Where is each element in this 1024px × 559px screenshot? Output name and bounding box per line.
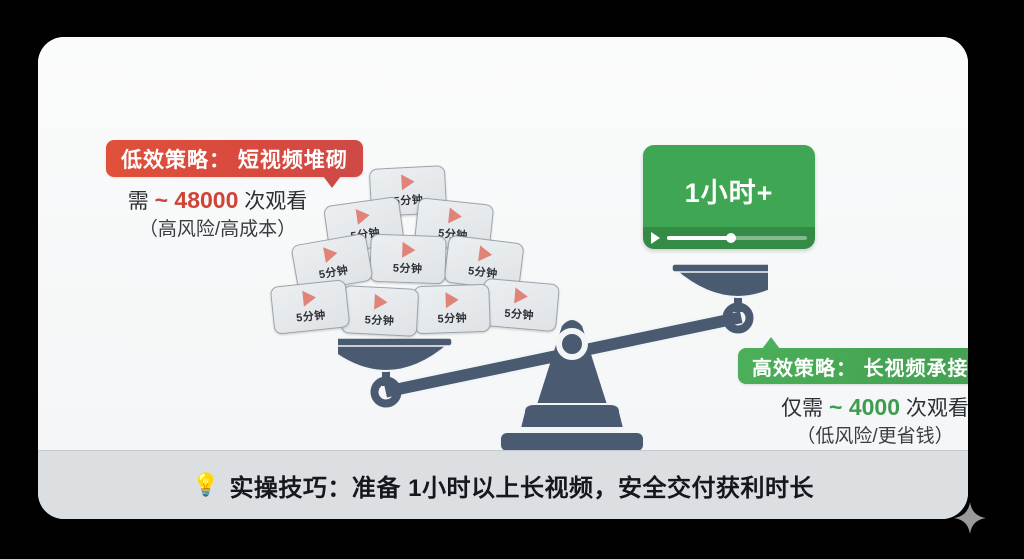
efficient-stat-block: 仅需 ~ 4000 次观看 （低风险/更省钱） [751, 392, 968, 450]
tip-footer: 💡 实操技巧：准备 1小时以上长视频，安全交付获利时长 [38, 450, 968, 519]
card-body: 低效策略： 短视频堆砌 需 ~ 48000 次观看 （高风险/高成本） 5分钟5… [38, 37, 968, 451]
efficient-strategy-badge: 高效策略： 长视频承接 [738, 348, 968, 384]
play-icon [323, 245, 339, 263]
long-video-card: 1小时+ [643, 145, 815, 249]
progress-knob [726, 233, 736, 243]
inefficient-stat-value: ~ 48000 [155, 187, 239, 213]
slide-stage: 低效策略： 短视频堆砌 需 ~ 48000 次观看 （高风险/高成本） 5分钟5… [0, 0, 1024, 559]
progress-fill [667, 236, 731, 240]
short-video-pile: 5分钟5分钟5分钟5分钟5分钟5分钟5分钟5分钟5分钟5分钟 [266, 195, 506, 330]
inefficient-strategy-badge: 低效策略： 短视频堆砌 [106, 140, 363, 177]
play-icon [402, 242, 416, 258]
efficient-stat-line: 仅需 ~ 4000 次观看 [751, 392, 968, 424]
play-icon [374, 294, 388, 311]
play-icon [448, 207, 463, 224]
play-icon [651, 232, 660, 244]
short-video-chip: 5分钟 [480, 278, 560, 332]
left-pan [338, 338, 452, 371]
right-pan [672, 264, 768, 297]
efficient-strategy-badge-label: 高效策略： 长视频承接 [752, 352, 968, 381]
play-icon [514, 287, 528, 304]
short-video-chip-label: 5分钟 [364, 311, 394, 329]
lightbulb-icon: 💡 [192, 472, 219, 498]
short-video-chip-label: 5分钟 [437, 309, 467, 326]
short-video-chip: 5分钟 [369, 234, 447, 285]
short-video-chip-label: 5分钟 [393, 259, 423, 276]
play-icon [302, 289, 317, 306]
video-progress-bar [643, 227, 815, 249]
short-video-chip: 5分钟 [270, 279, 351, 335]
play-icon [401, 174, 415, 191]
inefficient-stat-prefix: 需 [128, 190, 155, 213]
scale-column [534, 320, 610, 414]
short-video-chip-label: 5分钟 [295, 306, 326, 325]
efficient-stat-prefix: 仅需 [781, 397, 829, 420]
inefficient-strategy-badge-label: 低效策略： 短视频堆砌 [121, 144, 348, 174]
short-video-chip-label: 5分钟 [318, 261, 350, 282]
short-video-chip: 5分钟 [413, 284, 491, 335]
play-icon [355, 207, 370, 225]
play-icon [478, 245, 493, 262]
efficient-stat-suffix: 次观看 [900, 397, 968, 420]
short-video-chip-label: 5分钟 [504, 305, 535, 324]
progress-track [667, 236, 807, 240]
play-icon [445, 292, 459, 308]
tip-footer-text: 实操技巧：准备 1小时以上长视频，安全交付获利时长 [229, 468, 814, 503]
efficient-stat-note: （低风险/更省钱） [751, 424, 968, 450]
long-video-card-label: 1小时+ [643, 171, 815, 210]
badge-tail-green [762, 337, 780, 349]
efficient-stat-value: ~ 4000 [829, 394, 900, 420]
scale-base [500, 404, 644, 452]
content-card: 低效策略： 短视频堆砌 需 ~ 48000 次观看 （高风险/高成本） 5分钟5… [38, 37, 968, 519]
short-video-chip: 5分钟 [341, 285, 419, 337]
